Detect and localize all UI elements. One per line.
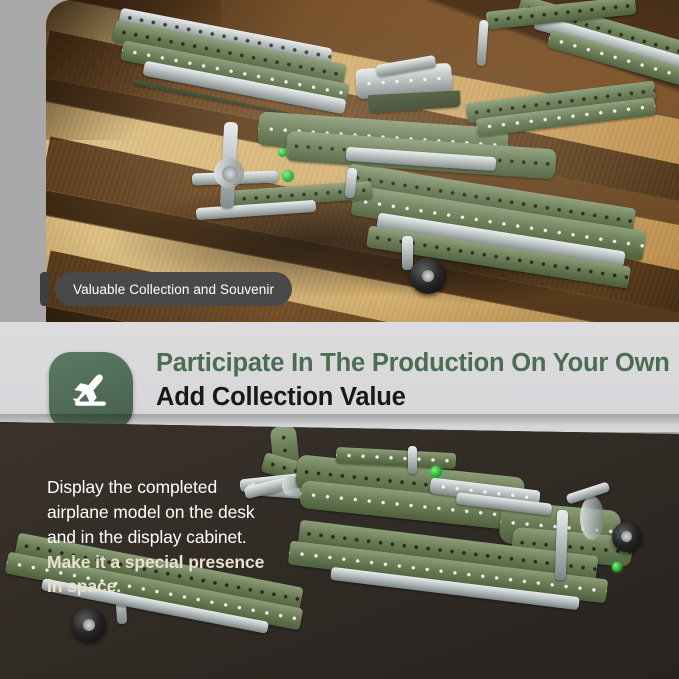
caption-text: Valuable Collection and Souvenir — [73, 282, 274, 297]
copy-plain: Display the completed airplane model on … — [47, 477, 255, 547]
green-nut — [612, 562, 622, 572]
headline-secondary: Add Collection Value — [156, 383, 676, 413]
green-nut — [430, 466, 442, 478]
product-detail-page: Valuable Collection and Souvenir Partici… — [0, 0, 679, 679]
headline-primary: Participate In The Production On Your Ow… — [156, 349, 676, 379]
section-divider — [0, 414, 679, 426]
airplane-takeoff-icon — [68, 371, 114, 411]
hero-caption: Valuable Collection and Souvenir — [40, 272, 292, 306]
caption-accent-bar — [40, 272, 49, 306]
showcase-copy: Display the completed airplane model on … — [47, 475, 272, 599]
feature-headings: Participate In The Production On Your Ow… — [156, 349, 676, 412]
copy-emphasis: Make it a special presence in space. — [47, 552, 264, 597]
caption-pill: Valuable Collection and Souvenir — [55, 272, 292, 306]
